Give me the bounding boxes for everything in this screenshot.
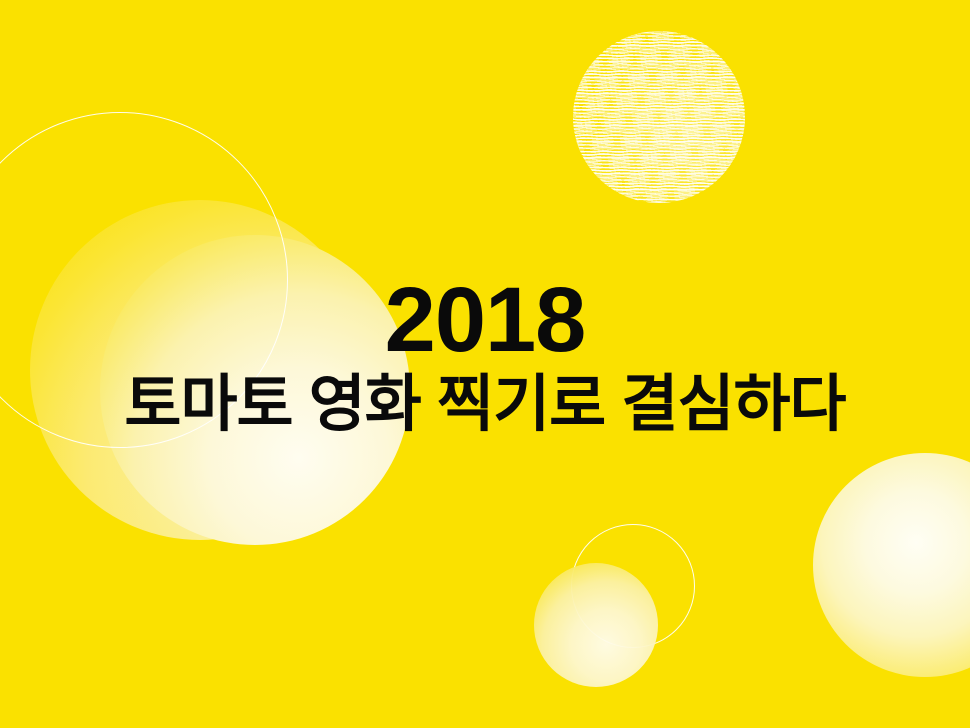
slide-content: 2018 토마토 영화 찍기로 결심하다: [0, 0, 970, 728]
slide-subtitle: 토마토 영화 찍기로 결심하다: [0, 374, 970, 436]
slide-year: 2018: [0, 274, 970, 366]
title-slide: 2018 토마토 영화 찍기로 결심하다: [0, 0, 970, 728]
